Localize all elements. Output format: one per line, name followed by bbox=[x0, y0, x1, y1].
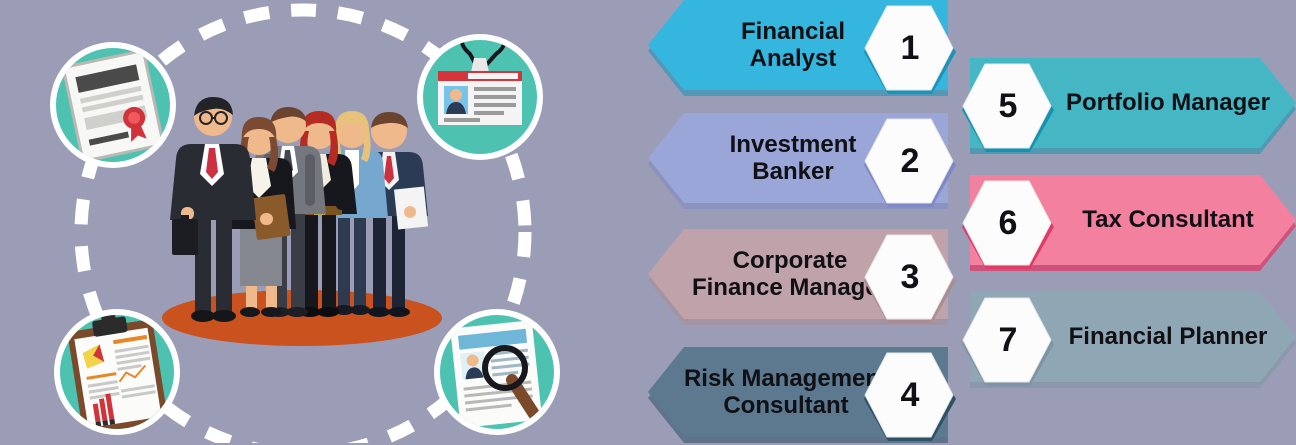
badge-number-1: 1 bbox=[858, 0, 962, 98]
badge-number-5: 5 bbox=[956, 56, 1060, 156]
badge-hexagon-7: 7 bbox=[956, 294, 1060, 390]
badge-hexagon-5: 5 bbox=[956, 60, 1060, 156]
illustration-panel bbox=[0, 0, 640, 443]
badge-number-6: 6 bbox=[956, 173, 1060, 273]
poster-canvas: Financial Analyst 1 Investment Banker 2 bbox=[0, 0, 1296, 443]
badge-hexagon-1: 1 bbox=[858, 2, 962, 98]
career-roles-infographic: Financial Analyst 1 Investment Banker 2 bbox=[640, 0, 1296, 443]
banner-label-7: Financial Planner bbox=[1056, 300, 1280, 374]
badge-number-3: 3 bbox=[858, 227, 962, 327]
certificate-icon bbox=[50, 42, 176, 168]
badge-number-2: 2 bbox=[858, 111, 962, 211]
badge-hexagon-6: 6 bbox=[956, 177, 1060, 273]
banner-label-6: Tax Consultant bbox=[1056, 183, 1280, 257]
badge-hexagon-4: 4 bbox=[858, 349, 962, 445]
business-team-illustration bbox=[0, 0, 640, 443]
badge-number-7: 7 bbox=[956, 290, 1060, 390]
resume-search-icon bbox=[434, 309, 560, 435]
badge-number-4: 4 bbox=[858, 345, 962, 445]
badge-hexagon-3: 3 bbox=[858, 231, 962, 327]
banner-label-5: Portfolio Manager bbox=[1056, 66, 1280, 140]
badge-hexagon-2: 2 bbox=[858, 115, 962, 211]
